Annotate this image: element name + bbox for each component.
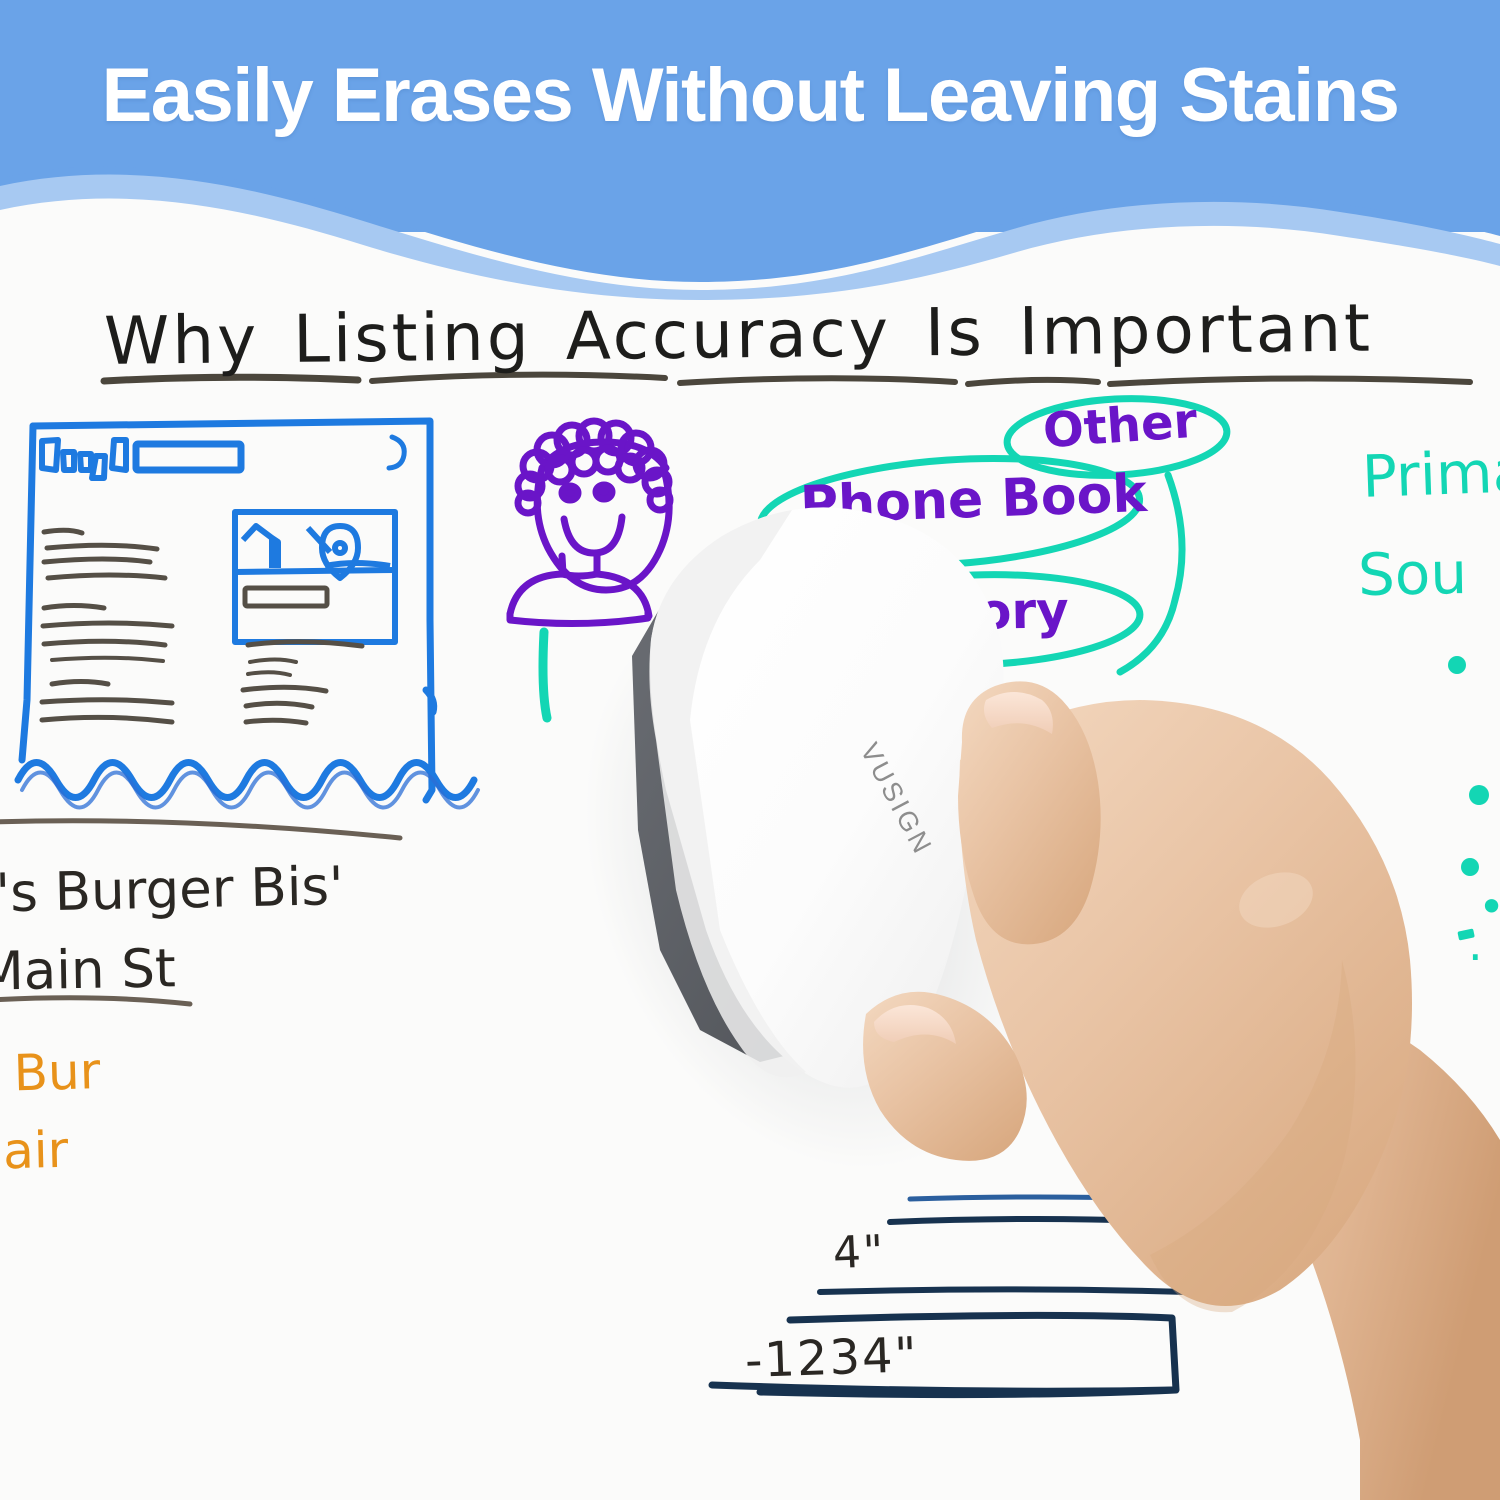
header-banner: Easily Erases Without Leaving Stains bbox=[0, 0, 1500, 300]
banner-headline: Easily Erases Without Leaving Stains bbox=[0, 56, 1500, 136]
product-marketing-image: WhyListingAccuracyIsImportant d's Burger… bbox=[0, 0, 1500, 1500]
banner-wave-shape bbox=[0, 0, 1500, 300]
